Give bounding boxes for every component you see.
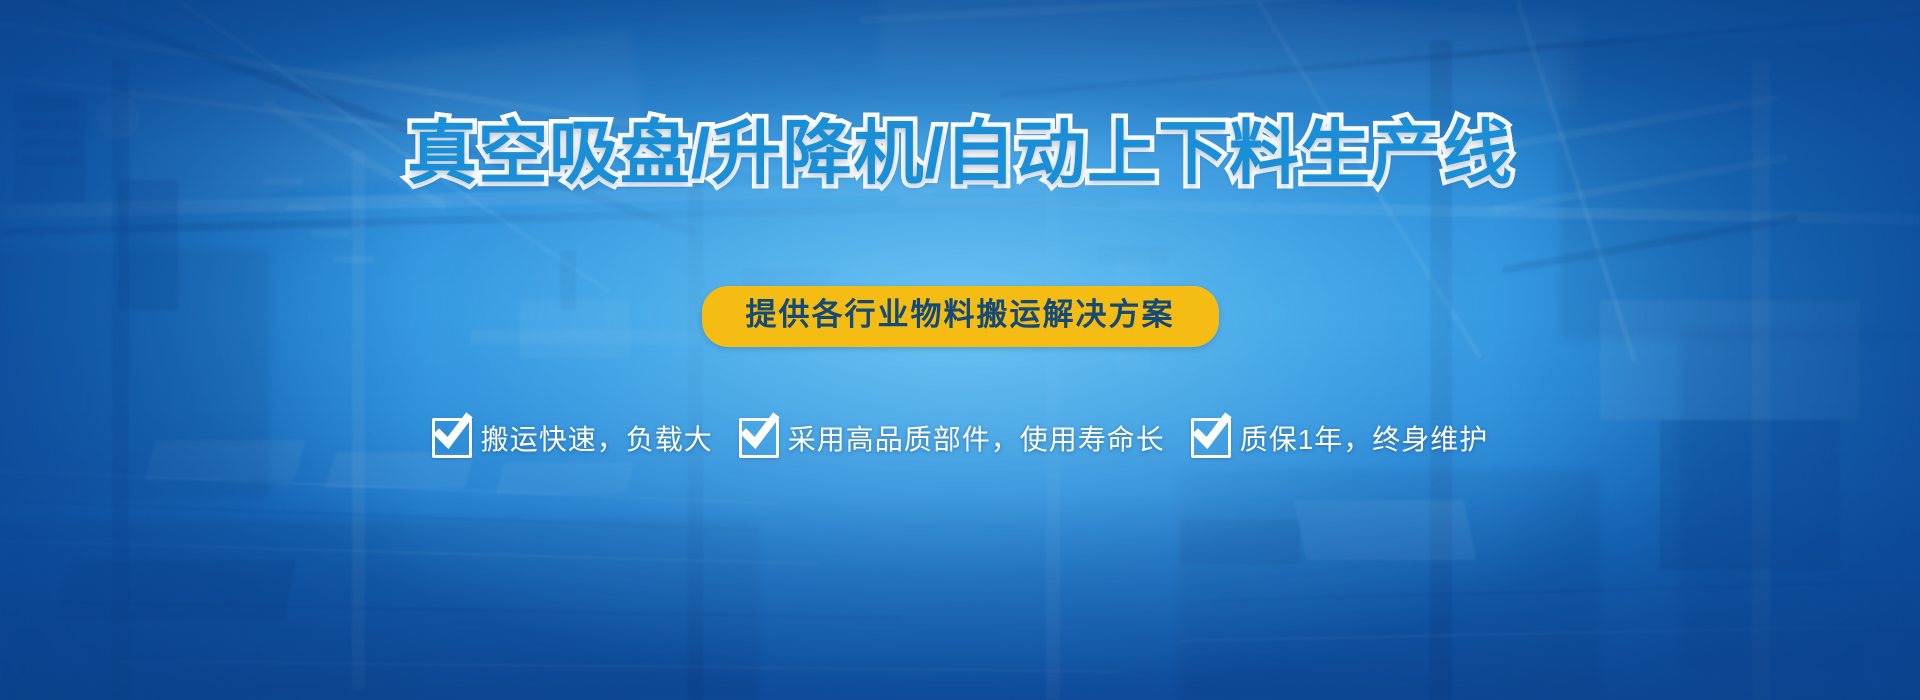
- feature-item-3: 质保1年，终身维护: [1191, 418, 1489, 458]
- checkbox-checked-icon: [1191, 418, 1231, 458]
- hero-banner: 真空吸盘/升降机/自动上下料生产线 提供各行业物料搬运解决方案 搬运快速，负载大: [0, 0, 1920, 700]
- banner-content: 真空吸盘/升降机/自动上下料生产线 提供各行业物料搬运解决方案 搬运快速，负载大: [0, 0, 1920, 700]
- banner-title: 真空吸盘/升降机/自动上下料生产线: [0, 118, 1920, 188]
- feature-label: 搬运快速，负载大: [481, 418, 713, 458]
- feature-label: 质保1年，终身维护: [1240, 418, 1489, 458]
- feature-item-2: 采用高品质部件，使用寿命长: [739, 418, 1165, 458]
- feature-list: 搬运快速，负载大 采用高品质部件，使用寿命长 质保1年，终身维护: [0, 418, 1920, 458]
- feature-label: 采用高品质部件，使用寿命长: [788, 418, 1165, 458]
- subtitle-pill-badge: 提供各行业物料搬运解决方案: [702, 286, 1219, 347]
- checkbox-checked-icon: [432, 418, 472, 458]
- banner-subtitle-row: 提供各行业物料搬运解决方案: [0, 286, 1920, 347]
- checkbox-checked-icon: [739, 418, 779, 458]
- feature-item-1: 搬运快速，负载大: [432, 418, 713, 458]
